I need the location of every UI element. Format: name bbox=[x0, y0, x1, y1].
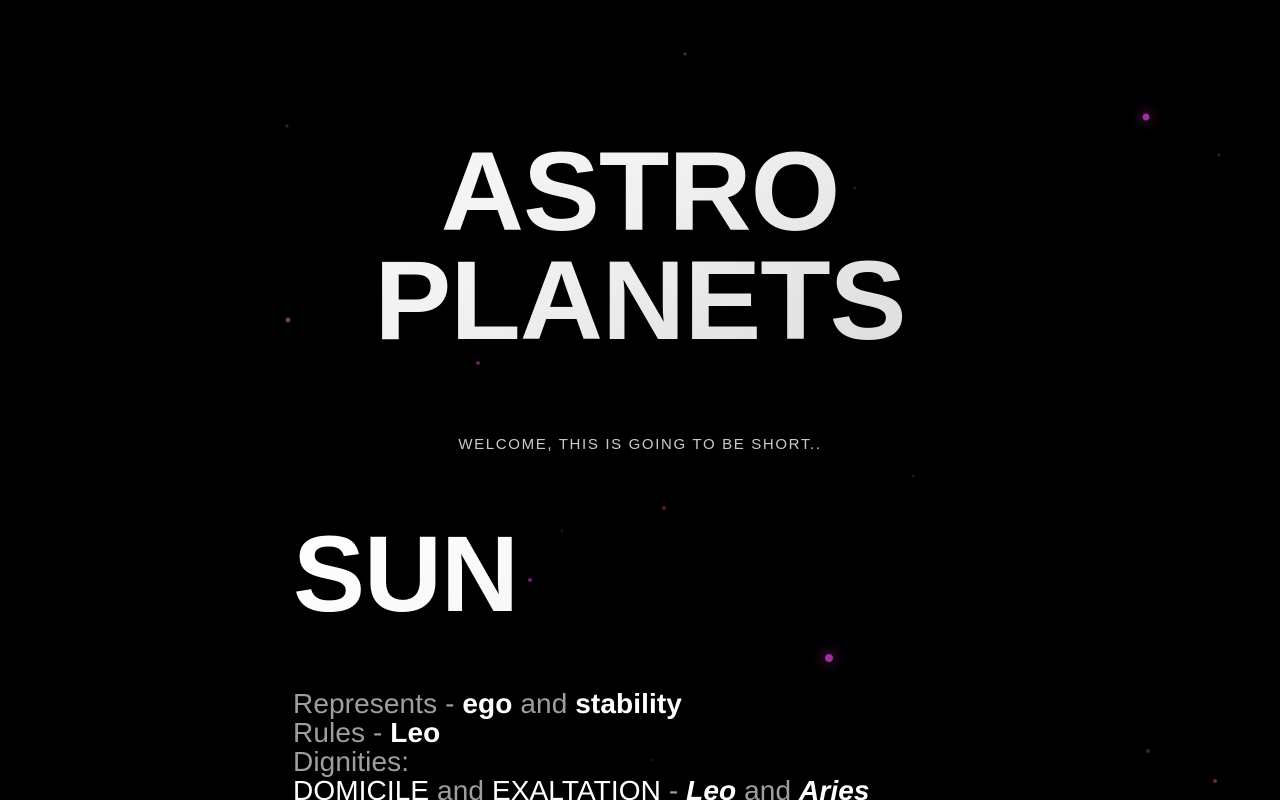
detail-line-rules: Rules - Leo bbox=[293, 718, 1253, 747]
represents-value-1: ego bbox=[462, 688, 512, 719]
represents-value-2: stability bbox=[575, 688, 682, 719]
slide-stage: ASTRO PLANETS WELCOME, THIS IS GOING TO … bbox=[0, 0, 1280, 800]
detail-line-dignities-values: DOMICILE and EXALTATION - Leo and Aries bbox=[293, 776, 1253, 800]
detail-line-dignities-label: Dignities: bbox=[293, 747, 1253, 776]
planet-details-list: Represents - ego and stability Rules - L… bbox=[293, 689, 1253, 800]
hero-section: ASTRO PLANETS bbox=[0, 138, 1280, 355]
rules-value: Leo bbox=[390, 717, 440, 748]
dignity-term-1: DOMICILE bbox=[293, 775, 429, 800]
dignity-conjunction-1: and bbox=[429, 775, 492, 800]
dignity-sign-1: Leo bbox=[686, 775, 736, 800]
hero-subtitle: WELCOME, THIS IS GOING TO BE SHORT.. bbox=[0, 436, 1280, 453]
represents-conjunction: and bbox=[512, 688, 575, 719]
represents-label: Represents - bbox=[293, 688, 462, 719]
dignity-conjunction-2: and bbox=[736, 775, 799, 800]
dignity-separator: - bbox=[661, 775, 686, 800]
planet-name-heading: SUN bbox=[293, 520, 1253, 628]
detail-line-represents: Represents - ego and stability bbox=[293, 689, 1253, 718]
page-title: ASTRO PLANETS bbox=[0, 138, 1280, 355]
dignity-sign-2: Aries bbox=[799, 775, 870, 800]
dignities-label: Dignities: bbox=[293, 746, 409, 777]
rules-label: Rules - bbox=[293, 717, 390, 748]
dignity-term-2: EXALTATION bbox=[492, 775, 661, 800]
planet-section: SUN Represents - ego and stability Rules… bbox=[293, 520, 1253, 800]
